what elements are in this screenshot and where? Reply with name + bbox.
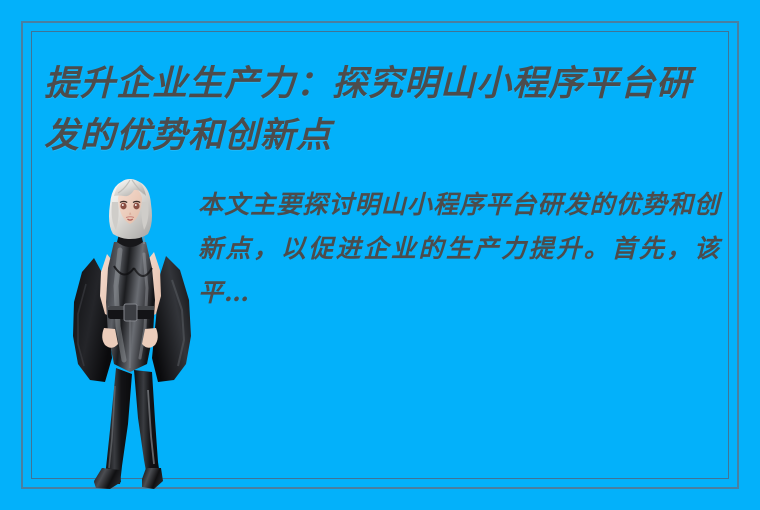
article-excerpt: 本文主要探讨明山小程序平台研发的优势和创新点，以促进企业的生产力提升。首先，该平…: [198, 183, 720, 315]
character-illustration: [60, 168, 200, 490]
page-title: 提升企业生产力：探究明山小程序平台研发的优势和创新点: [44, 58, 724, 162]
article-cover-card: 提升企业生产力：探究明山小程序平台研发的优势和创新点 本文主要探讨明山小程序平台…: [0, 0, 760, 510]
